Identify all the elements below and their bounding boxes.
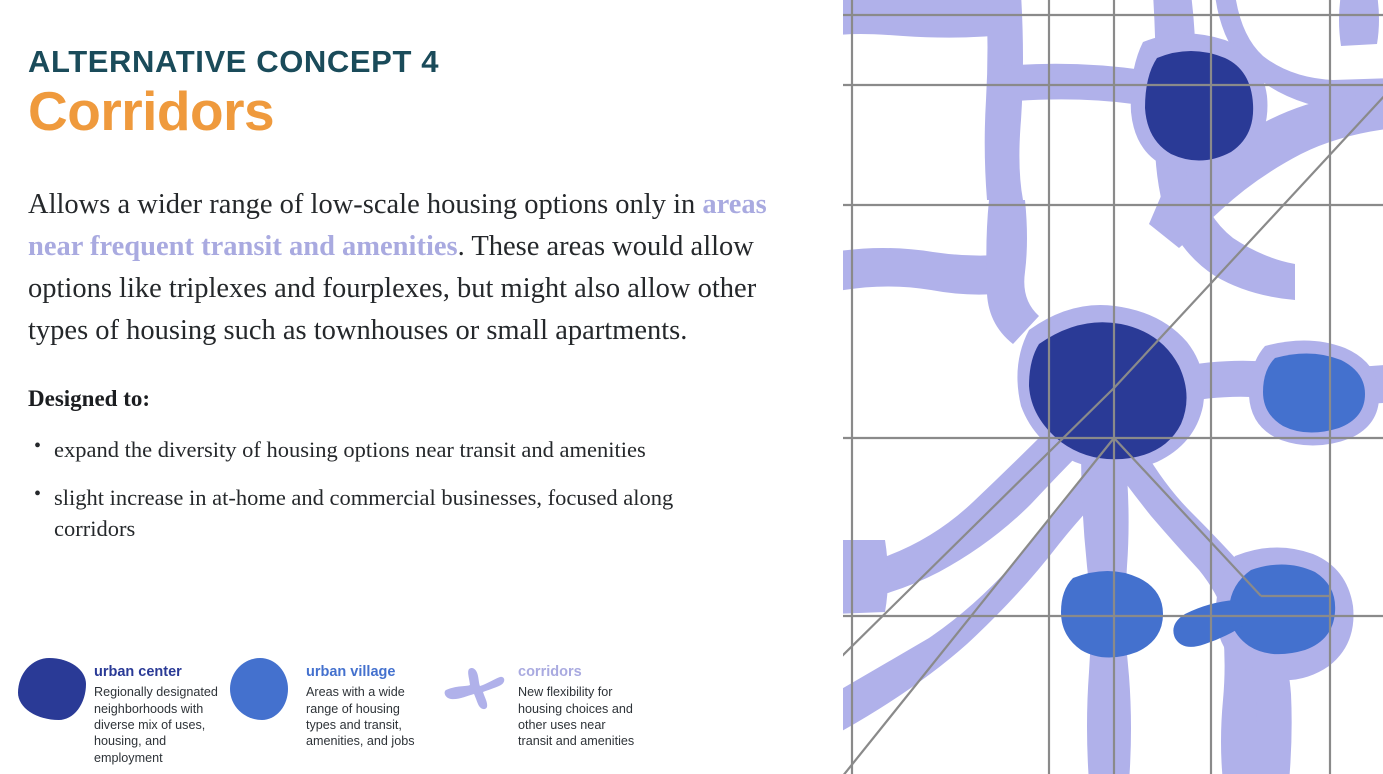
- body-paragraph: Allows a wider range of low-scale housin…: [28, 184, 768, 352]
- legend-item-corridors: corridors New flexibility for housing ch…: [442, 658, 654, 750]
- legend-description: Areas with a wide range of housing types…: [306, 684, 431, 749]
- periwinkle-cross-icon: [442, 658, 510, 720]
- map-pane: [843, 0, 1383, 774]
- legend: urban center Regionally designated neigh…: [18, 658, 654, 766]
- navy-blob-icon: [18, 658, 86, 720]
- legend-item-urban-center: urban center Regionally designated neigh…: [18, 658, 230, 766]
- designed-to-list: expand the diversity of housing options …: [28, 434, 758, 544]
- blue-blob-icon: [230, 658, 298, 720]
- legend-text-block: urban village Areas with a wide range of…: [306, 658, 431, 750]
- slide-root: ALTERNATIVE CONCEPT 4 Corridors Allows a…: [0, 0, 1383, 774]
- legend-title: urban village: [306, 664, 431, 681]
- list-item: slight increase in at-home and commercia…: [28, 482, 758, 544]
- slide-eyebrow: ALTERNATIVE CONCEPT 4: [28, 46, 803, 79]
- legend-title: corridors: [518, 664, 643, 681]
- legend-title: urban center: [94, 664, 219, 681]
- legend-item-urban-village: urban village Areas with a wide range of…: [230, 658, 442, 750]
- legend-text-block: corridors New flexibility for housing ch…: [518, 658, 643, 750]
- legend-description: Regionally designated neighborhoods with…: [94, 684, 219, 766]
- legend-description: New flexibility for housing choices and …: [518, 684, 643, 749]
- list-item: expand the diversity of housing options …: [28, 434, 758, 465]
- body-part-1: Allows a wider range of low-scale housin…: [28, 189, 702, 220]
- content-pane: ALTERNATIVE CONCEPT 4 Corridors Allows a…: [0, 0, 843, 774]
- designed-to-heading: Designed to:: [28, 386, 803, 412]
- legend-text-block: urban center Regionally designated neigh…: [94, 658, 219, 766]
- page-title: Corridors: [28, 83, 803, 141]
- concept-diagram-map: [843, 0, 1383, 774]
